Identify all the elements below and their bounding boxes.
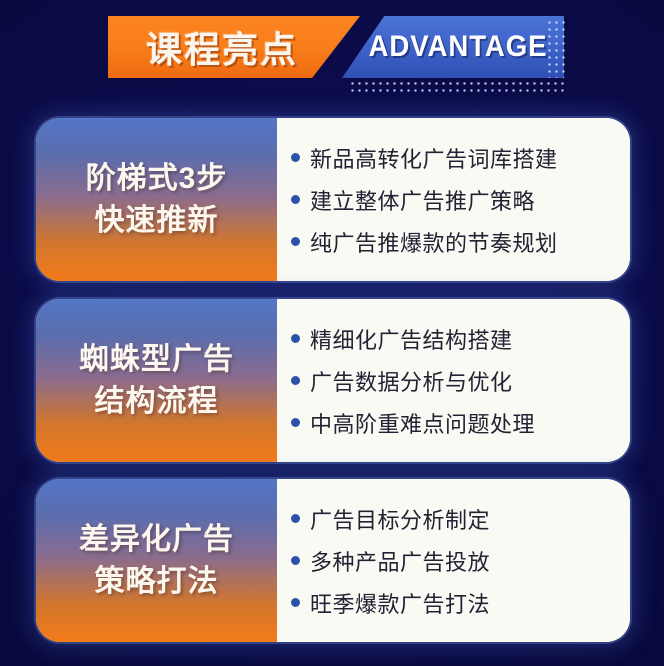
- list-item: 旺季爆款广告打法: [291, 587, 616, 619]
- bullet-dot-icon: [291, 514, 300, 523]
- bullet-label: 中高阶重难点问题处理: [310, 407, 535, 439]
- bullet-label: 建立整体广告推广策略: [310, 184, 535, 216]
- bullet-dot-icon: [291, 418, 300, 427]
- bullet-dot-icon: [291, 195, 300, 204]
- card-title-panel: 差异化广告 策略打法: [36, 479, 277, 642]
- header-banner: 课程亮点 ADVANTAGE: [0, 0, 664, 100]
- card-title-line-1: 差异化广告: [79, 522, 234, 557]
- list-item: 多种产品广告投放: [291, 545, 616, 577]
- highlight-card: 差异化广告 策略打法 广告目标分析制定 多种产品广告投放 旺季爆款广告打法: [36, 479, 630, 642]
- list-item: 新品高转化广告词库搭建: [291, 142, 616, 174]
- dot-grid-right-icon: [545, 18, 567, 78]
- bullet-dot-icon: [291, 237, 300, 246]
- card-bullet-panel: 广告目标分析制定 多种产品广告投放 旺季爆款广告打法: [277, 479, 630, 642]
- card-title-line-2: 快速推新: [95, 203, 219, 238]
- highlight-card: 蜘蛛型广告 结构流程 精细化广告结构搭建 广告数据分析与优化 中高阶重难点问题处…: [36, 299, 630, 462]
- bullet-label: 广告数据分析与优化: [310, 365, 513, 397]
- bullet-dot-icon: [291, 556, 300, 565]
- card-bullet-panel: 精细化广告结构搭建 广告数据分析与优化 中高阶重难点问题处理: [277, 299, 630, 462]
- list-item: 中高阶重难点问题处理: [291, 407, 616, 439]
- list-item: 精细化广告结构搭建: [291, 323, 616, 355]
- card-title-line-1: 阶梯式3步: [86, 161, 228, 196]
- card-bullet-panel: 新品高转化广告词库搭建 建立整体广告推广策略 纯广告推爆款的节奏规划: [277, 118, 630, 281]
- list-item: 建立整体广告推广策略: [291, 184, 616, 216]
- poster-canvas: 课程亮点 ADVANTAGE 阶梯式3步 快速推新 新品高转化广告词库搭建 建立…: [0, 0, 664, 666]
- card-title-panel: 蜘蛛型广告 结构流程: [36, 299, 277, 462]
- card-title-line-2: 策略打法: [95, 564, 219, 599]
- bullet-dot-icon: [291, 153, 300, 162]
- bullet-dot-icon: [291, 376, 300, 385]
- bullet-label: 精细化广告结构搭建: [310, 323, 513, 355]
- bullet-label: 纯广告推爆款的节奏规划: [310, 226, 558, 258]
- header-title-en: ADVANTAGE: [368, 18, 548, 76]
- bullet-label: 新品高转化广告词库搭建: [310, 142, 558, 174]
- bullet-label: 旺季爆款广告打法: [310, 587, 490, 619]
- bullet-label: 多种产品广告投放: [310, 545, 490, 577]
- list-item: 广告目标分析制定: [291, 503, 616, 535]
- bullet-label: 广告目标分析制定: [310, 503, 490, 535]
- highlight-card: 阶梯式3步 快速推新 新品高转化广告词库搭建 建立整体广告推广策略 纯广告推爆款…: [36, 118, 630, 281]
- bullet-dot-icon: [291, 334, 300, 343]
- card-title-line-2: 结构流程: [95, 384, 219, 419]
- header-title-cn: 课程亮点: [112, 18, 332, 76]
- list-item: 纯广告推爆款的节奏规划: [291, 226, 616, 258]
- card-title-line-1: 蜘蛛型广告: [79, 342, 234, 377]
- card-title-panel: 阶梯式3步 快速推新: [36, 118, 277, 281]
- dot-grid-bottom-icon: [348, 78, 566, 94]
- list-item: 广告数据分析与优化: [291, 365, 616, 397]
- bullet-dot-icon: [291, 598, 300, 607]
